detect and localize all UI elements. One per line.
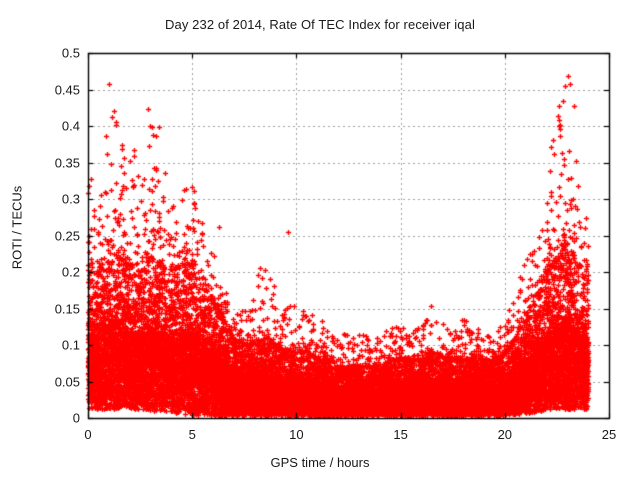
y-tick-label: 0 (18, 411, 80, 426)
x-tick-label: 5 (189, 427, 196, 442)
y-tick-label: 0.05 (18, 374, 80, 389)
y-tick-label: 0.4 (18, 119, 80, 134)
x-tick-label: 15 (393, 427, 407, 442)
scatter-plot-canvas (0, 0, 640, 480)
y-tick-label: 0.5 (18, 46, 80, 61)
x-tick-label: 20 (498, 427, 512, 442)
y-tick-label: 0.25 (18, 228, 80, 243)
y-tick-label: 0.35 (18, 155, 80, 170)
x-tick-label: 0 (84, 427, 91, 442)
y-tick-label: 0.15 (18, 301, 80, 316)
x-tick-label: 25 (602, 427, 616, 442)
x-tick-label: 10 (289, 427, 303, 442)
y-tick-label: 0.1 (18, 338, 80, 353)
y-tick-label: 0.3 (18, 192, 80, 207)
y-tick-label: 0.45 (18, 82, 80, 97)
y-tick-label: 0.2 (18, 265, 80, 280)
chart-container: Day 232 of 2014, Rate Of TEC Index for r… (0, 0, 640, 480)
